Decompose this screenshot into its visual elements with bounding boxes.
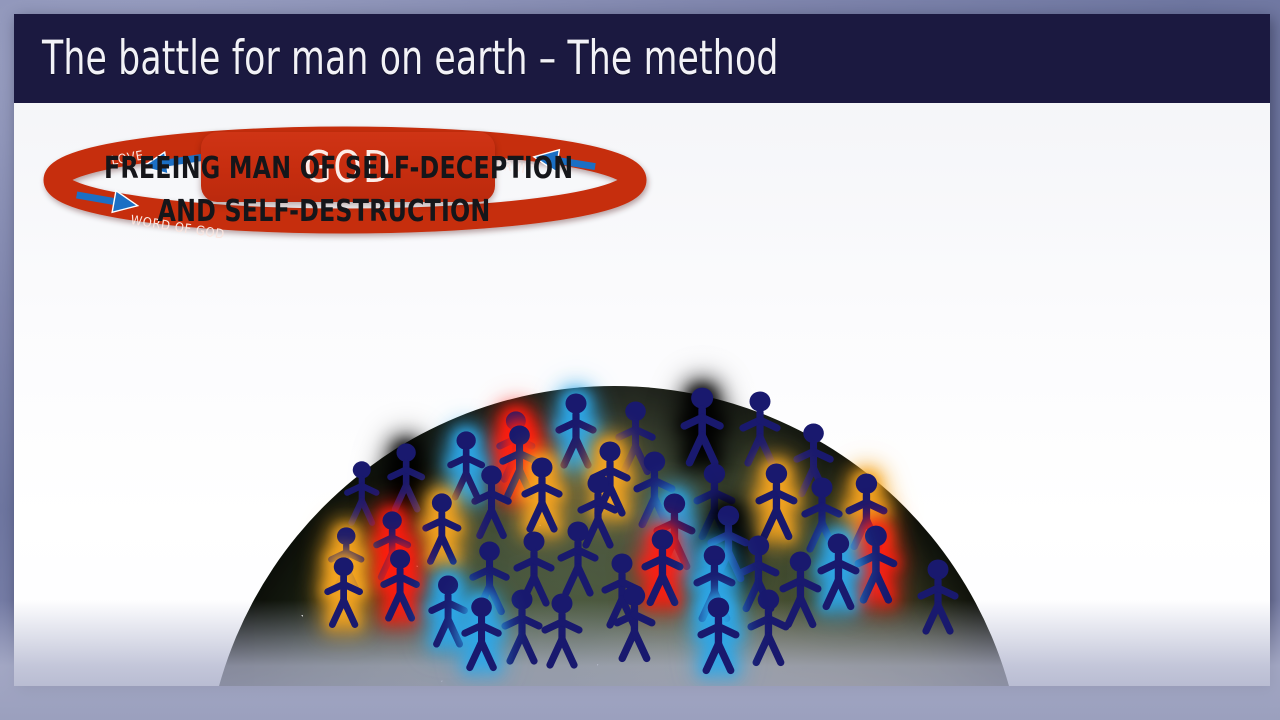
earth-illustration — [14, 344, 1270, 686]
stick-figure — [322, 556, 365, 629]
stick-figure — [737, 390, 783, 468]
presentation-slide: The battle for man on earth – The method — [14, 14, 1270, 686]
stick-figure — [420, 492, 464, 566]
stick-figure — [555, 520, 601, 598]
stick-figure — [915, 558, 961, 636]
desktop-backdrop: The battle for man on earth – The method — [0, 0, 1280, 720]
stick-figure — [678, 386, 726, 468]
stick-figure — [459, 596, 504, 672]
slide-title-bar: The battle for man on earth – The method — [14, 14, 1270, 103]
stick-figure — [611, 584, 658, 664]
crowd-of-figures — [14, 344, 1270, 686]
stick-figure — [745, 588, 792, 668]
page-title: The battle for man on earth – The method — [42, 31, 779, 86]
stick-figure — [469, 464, 514, 540]
caption-block: FREEING MAN OF SELF-DECEPTION AND SELF-D… — [104, 148, 544, 233]
caption-line-2: AND SELF-DESTRUCTION — [104, 191, 544, 234]
stick-figure — [753, 462, 800, 542]
stick-figure — [539, 592, 585, 670]
stick-figure — [695, 596, 742, 676]
caption-line-1: FREEING MAN OF SELF-DECEPTION — [104, 148, 544, 191]
stick-figure — [378, 548, 422, 623]
